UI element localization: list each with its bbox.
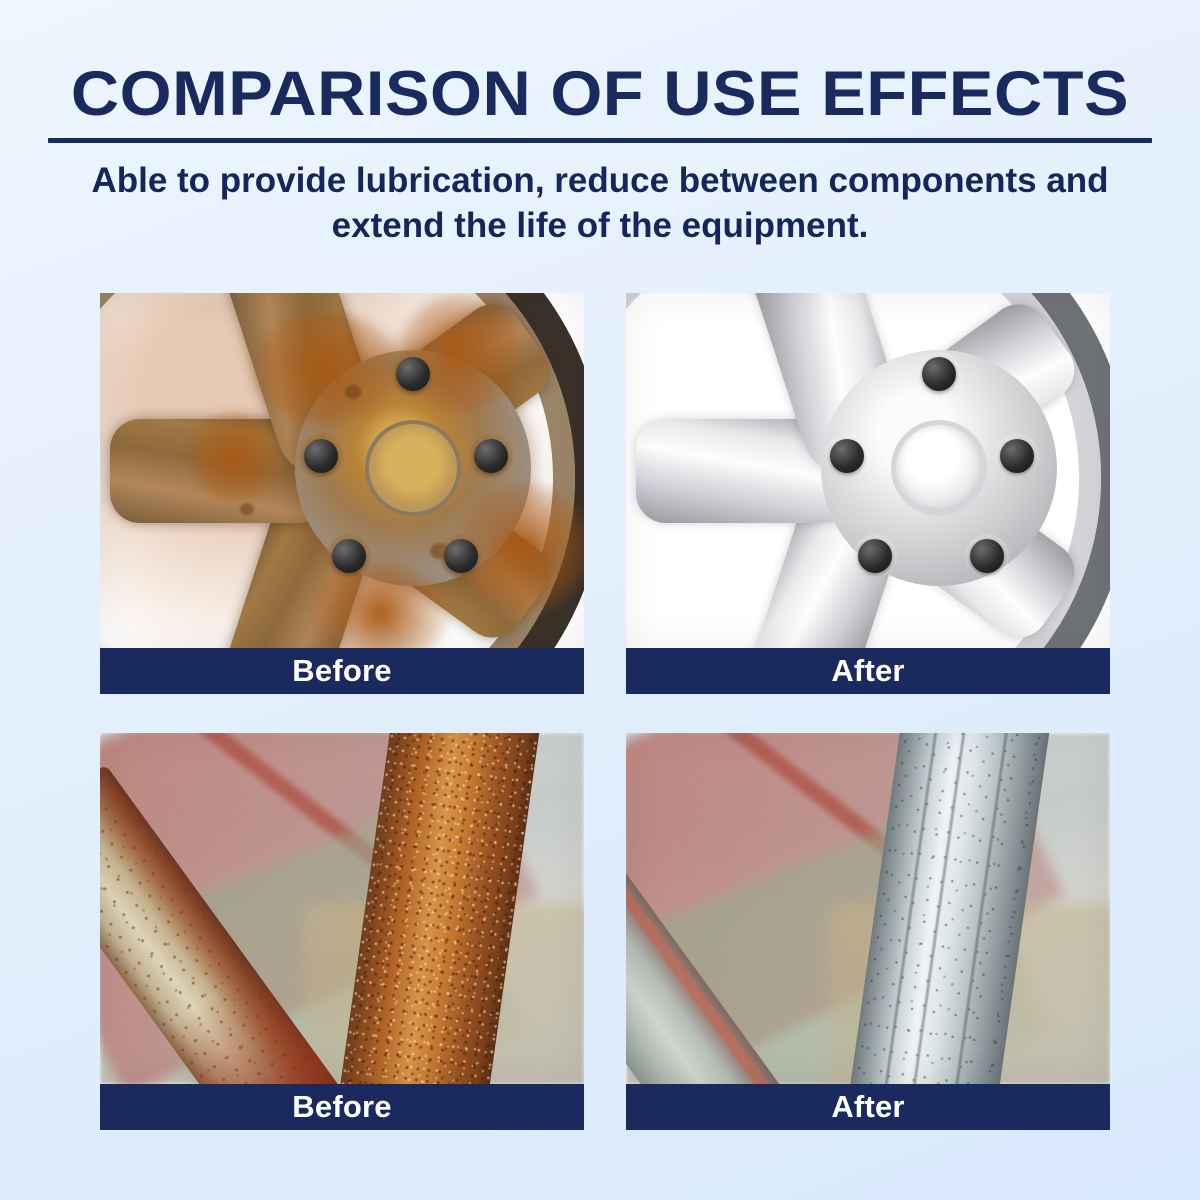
pipe-seam: [901, 733, 982, 1084]
panel-pipe-before: Before: [100, 733, 584, 1130]
panel-label-before: Before: [100, 648, 584, 694]
rusty-wheel-illustration: [100, 293, 584, 648]
page-subtitle: Able to provide lubrication, reduce betw…: [45, 159, 1155, 249]
rust-speck: [345, 385, 361, 399]
panel-label-after: After: [626, 648, 1110, 694]
clean-pipe-illustration: [626, 733, 1110, 1084]
photo-clean-pipe: [626, 733, 1110, 1084]
photo-rusty-wheel: [100, 293, 584, 648]
lug-nut-icon: [970, 539, 1004, 573]
rusty-pipe-illustration: [100, 733, 584, 1084]
lug-nut-icon: [858, 539, 892, 573]
lug-nut-icon: [830, 439, 864, 473]
panel-pipe-after: After: [626, 733, 1110, 1130]
lug-nut-icon: [396, 357, 430, 391]
header: COMPARISON OF USE EFFECTS Able to provid…: [0, 0, 1200, 249]
photo-rusty-pipe: [100, 733, 584, 1084]
panel-label-before: Before: [100, 1084, 584, 1130]
lug-nut-icon: [304, 439, 338, 473]
panel-wheel-after: After: [626, 293, 1110, 694]
rust-speck: [240, 503, 254, 515]
clean-wheel-illustration: [626, 293, 1110, 648]
lug-nut-icon: [474, 439, 508, 473]
title-divider: [48, 138, 1152, 143]
page-title: COMPARISON OF USE EFFECTS: [0, 62, 1200, 126]
panel-wheel-before: Before: [100, 293, 584, 694]
lug-nut-icon: [444, 539, 478, 573]
rust-blotch: [460, 483, 584, 613]
lug-nut-icon: [1000, 439, 1034, 473]
lug-nut-icon: [332, 539, 366, 573]
rust-blotch: [400, 293, 520, 413]
photo-clean-wheel: [626, 293, 1110, 648]
comparison-grid: Before: [100, 293, 1110, 1130]
lug-nut-icon: [922, 357, 956, 391]
rust-blotch: [250, 313, 400, 423]
wheel-center-cap: [891, 420, 987, 516]
panel-label-after: After: [626, 1084, 1110, 1130]
infographic-page: COMPARISON OF USE EFFECTS Able to provid…: [0, 0, 1200, 1200]
wheel-center-cap: [365, 420, 461, 516]
rust-blotch: [190, 413, 280, 503]
